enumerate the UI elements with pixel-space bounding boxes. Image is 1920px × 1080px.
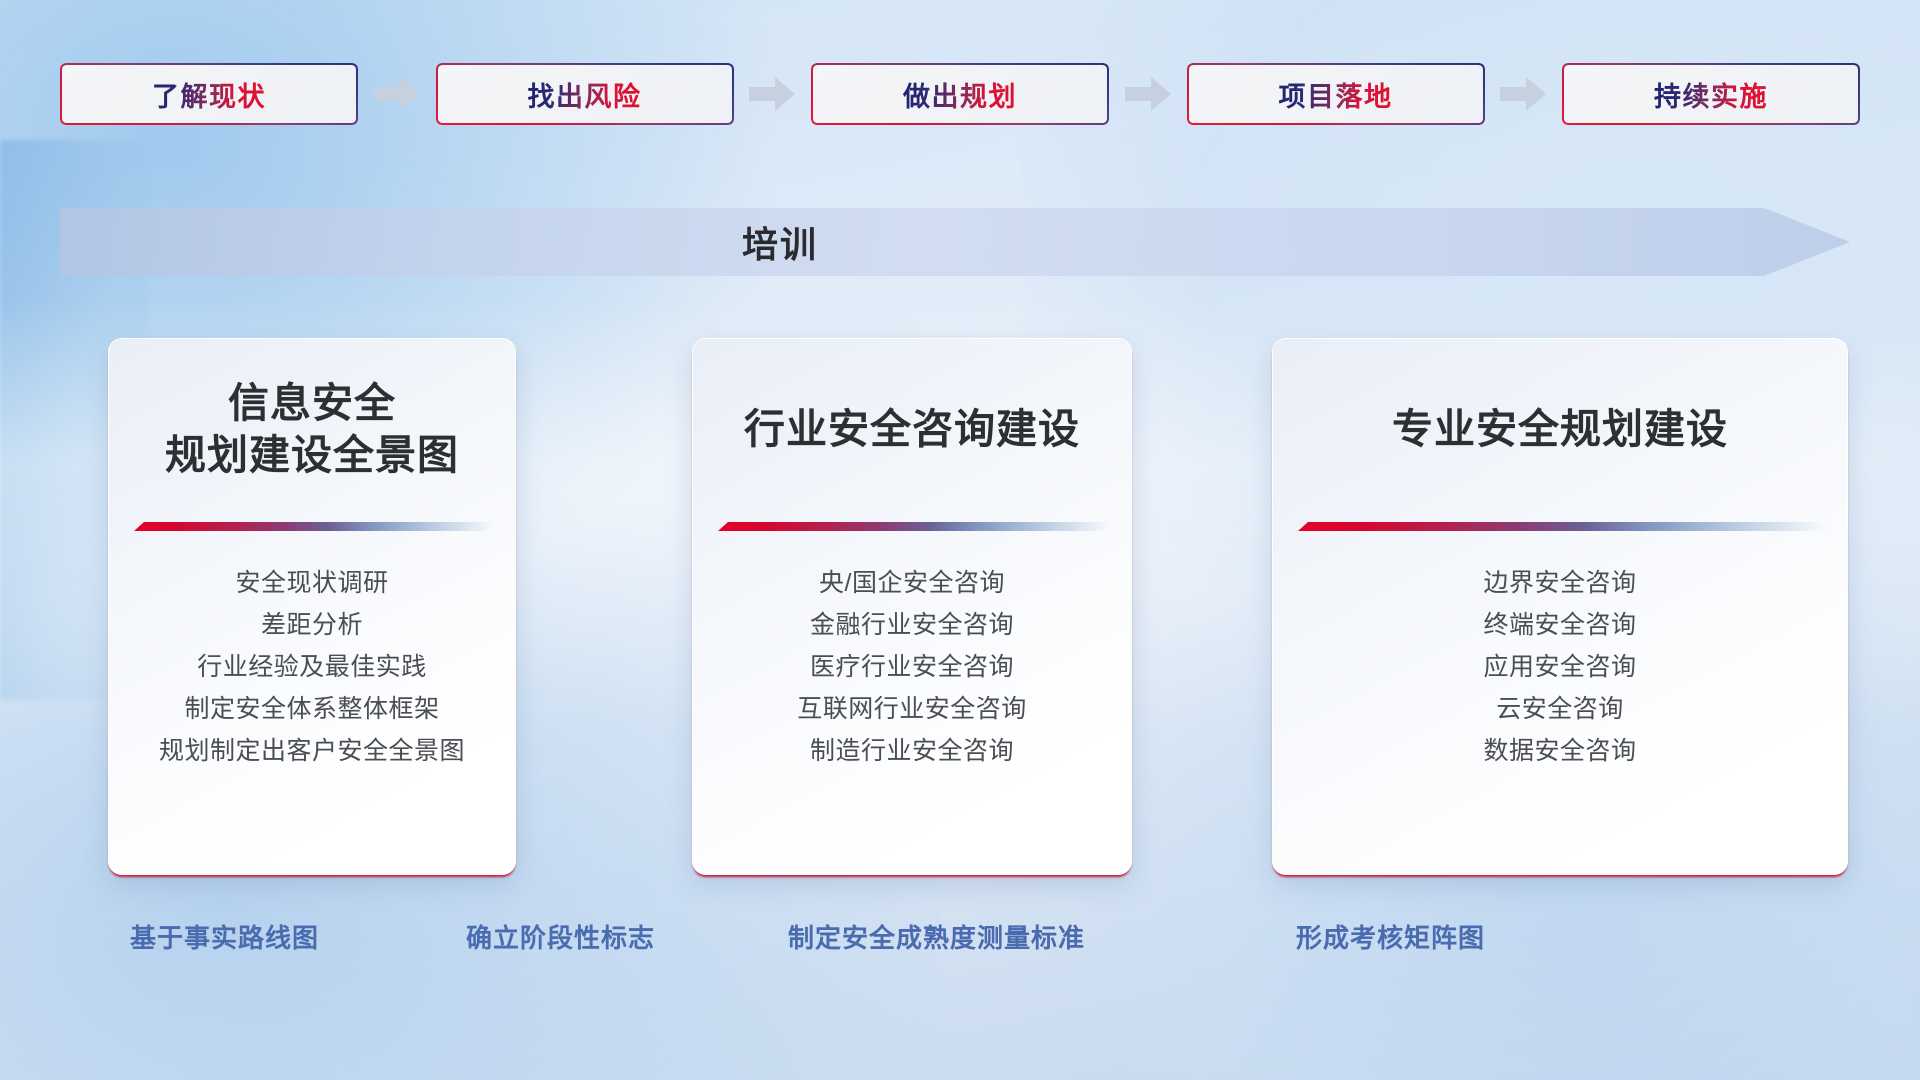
card-item-list: 边界安全咨询 终端安全咨询 应用安全咨询 云安全咨询 数据安全咨询 [1272, 534, 1848, 875]
process-step-row: 了解现状 找出风险 做出规划 项目落地 持续实施 [60, 63, 1860, 125]
arrow-right-icon [374, 77, 420, 111]
card-title: 信息安全 规划建设全景图 [165, 377, 459, 482]
slide-stage: 了解现状 找出风险 做出规划 项目落地 持续实施 培训 [0, 0, 1920, 1080]
process-step-label: 找出风险 [528, 75, 642, 114]
process-step-3[interactable]: 项目落地 [1187, 63, 1485, 125]
card-item-list: 央/国企安全咨询 金融行业安全咨询 医疗行业安全咨询 互联网行业安全咨询 制造行… [692, 534, 1132, 875]
card-divider [1298, 520, 1826, 534]
card-item-list: 安全现状调研 差距分析 行业经验及最佳实践 制定安全体系整体框架 规划制定出客户… [108, 534, 516, 875]
list-item: 数据安全咨询 [1483, 730, 1636, 772]
card-divider [134, 520, 494, 534]
card-title: 行业安全咨询建设 [744, 403, 1080, 455]
list-item: 安全现状调研 [235, 562, 388, 604]
card-header: 行业安全咨询建设 [692, 338, 1132, 520]
caption-1: 确立阶段性标志 [466, 918, 655, 955]
list-item: 应用安全咨询 [1483, 646, 1636, 688]
process-step-2[interactable]: 做出规划 [811, 63, 1109, 125]
arrow-right-icon [749, 77, 795, 111]
card-title: 专业安全规划建设 [1392, 403, 1728, 455]
process-step-label: 持续实施 [1654, 75, 1768, 114]
capability-card-0[interactable]: 信息安全 规划建设全景图 安全现状调研 差距分析 行业经验及最佳实践 制定安全体… [108, 338, 516, 875]
card-header: 专业安全规划建设 [1272, 338, 1848, 520]
training-banner: 培训 [60, 208, 1850, 276]
arrow-right-icon [1500, 77, 1546, 111]
list-item: 行业经验及最佳实践 [197, 646, 427, 688]
list-item: 互联网行业安全咨询 [797, 688, 1027, 730]
process-step-0[interactable]: 了解现状 [60, 63, 358, 125]
process-step-1[interactable]: 找出风险 [436, 63, 734, 125]
caption-row: 基于事实路线图 确立阶段性标志 制定安全成熟度测量标准 形成考核矩阵图 [0, 918, 1920, 964]
list-item: 规划制定出客户安全全景图 [159, 730, 465, 772]
list-item: 终端安全咨询 [1483, 604, 1636, 646]
capability-card-1[interactable]: 行业安全咨询建设 央/国企安全咨询 金融行业安全咨询 医疗行业安全咨询 互联网行… [692, 338, 1132, 875]
process-step-4[interactable]: 持续实施 [1562, 63, 1860, 125]
caption-3: 形成考核矩阵图 [1296, 918, 1485, 955]
arrow-right-icon [1125, 77, 1171, 111]
list-item: 制造行业安全咨询 [810, 730, 1014, 772]
list-item: 边界安全咨询 [1483, 562, 1636, 604]
banner-title: 培训 [60, 208, 1500, 276]
list-item: 医疗行业安全咨询 [810, 646, 1014, 688]
caption-2: 制定安全成熟度测量标准 [788, 918, 1085, 955]
process-step-label: 做出规划 [903, 75, 1017, 114]
list-item: 差距分析 [261, 604, 363, 646]
card-divider [718, 520, 1110, 534]
caption-0: 基于事实路线图 [130, 918, 319, 955]
list-item: 金融行业安全咨询 [810, 604, 1014, 646]
list-item: 央/国企安全咨询 [819, 562, 1005, 604]
list-item: 云安全咨询 [1496, 688, 1624, 730]
list-item: 制定安全体系整体框架 [184, 688, 439, 730]
capability-card-2[interactable]: 专业安全规划建设 边界安全咨询 终端安全咨询 应用安全咨询 云安全咨询 数据安全… [1272, 338, 1848, 875]
process-step-label: 了解现状 [152, 75, 266, 114]
process-step-label: 项目落地 [1279, 75, 1393, 114]
card-header: 信息安全 规划建设全景图 [108, 338, 516, 520]
